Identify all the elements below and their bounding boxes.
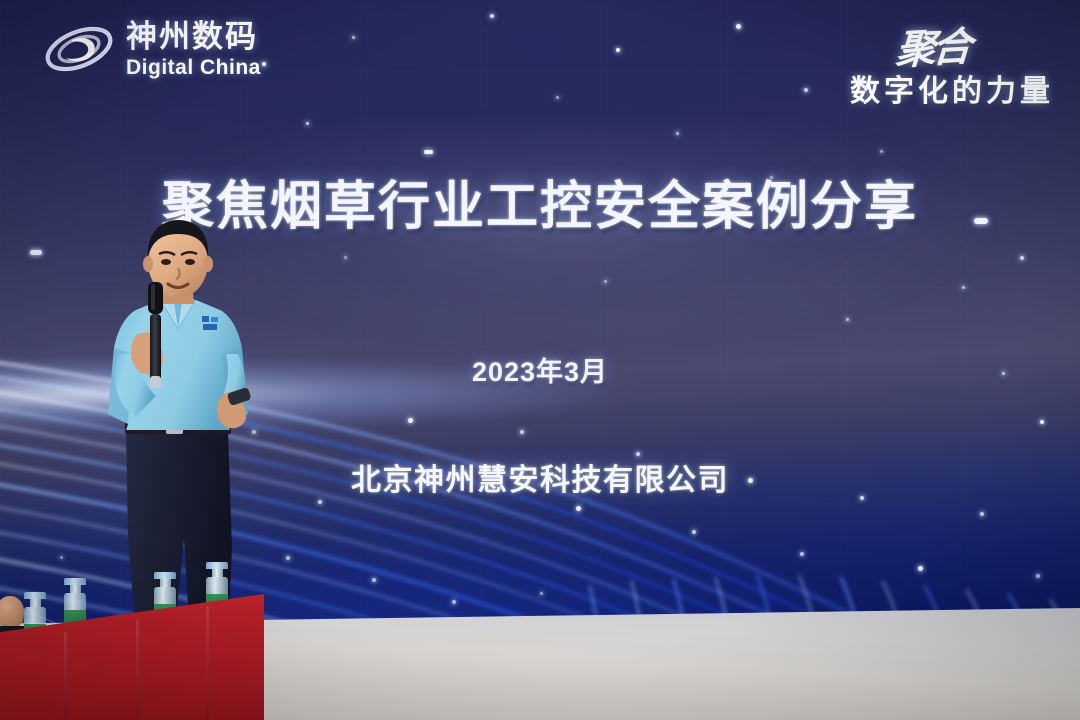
bottle-cap [24, 592, 46, 599]
front-row-table [0, 574, 274, 720]
bottle-neck [160, 579, 171, 587]
bottle-neck [212, 569, 223, 577]
eye-right [185, 259, 195, 265]
brand-name-cn: 神州数码 [126, 21, 261, 52]
cloth-fold [136, 620, 139, 720]
bottle-cap [64, 578, 86, 585]
ear-left [143, 256, 153, 272]
presenter-chest-logo-icon [202, 316, 219, 331]
cloth-fold [64, 632, 67, 720]
eye-left [161, 259, 171, 265]
digital-china-logo: 神州数码 Digital China [42, 18, 261, 80]
event-calligraphy: 聚合 [894, 14, 969, 76]
brand-name-en: Digital China [126, 57, 261, 78]
conference-photo: 聚焦烟草行业工控安全案例分享 2023年3月 北京神州慧安科技有限公司 神州数码… [0, 0, 1080, 720]
audience-head [0, 596, 24, 628]
ear-right [203, 256, 213, 272]
bottle-cap [206, 562, 228, 569]
cloth-fold [206, 606, 209, 720]
event-theme-logo: 聚合 数字化的力量 [850, 16, 1054, 110]
microphone-icon [148, 282, 163, 388]
bottle-cap [154, 572, 176, 579]
bottle-neck [70, 585, 81, 593]
bottle-neck [30, 599, 41, 607]
digital-china-spiral-logo-icon [42, 18, 116, 80]
